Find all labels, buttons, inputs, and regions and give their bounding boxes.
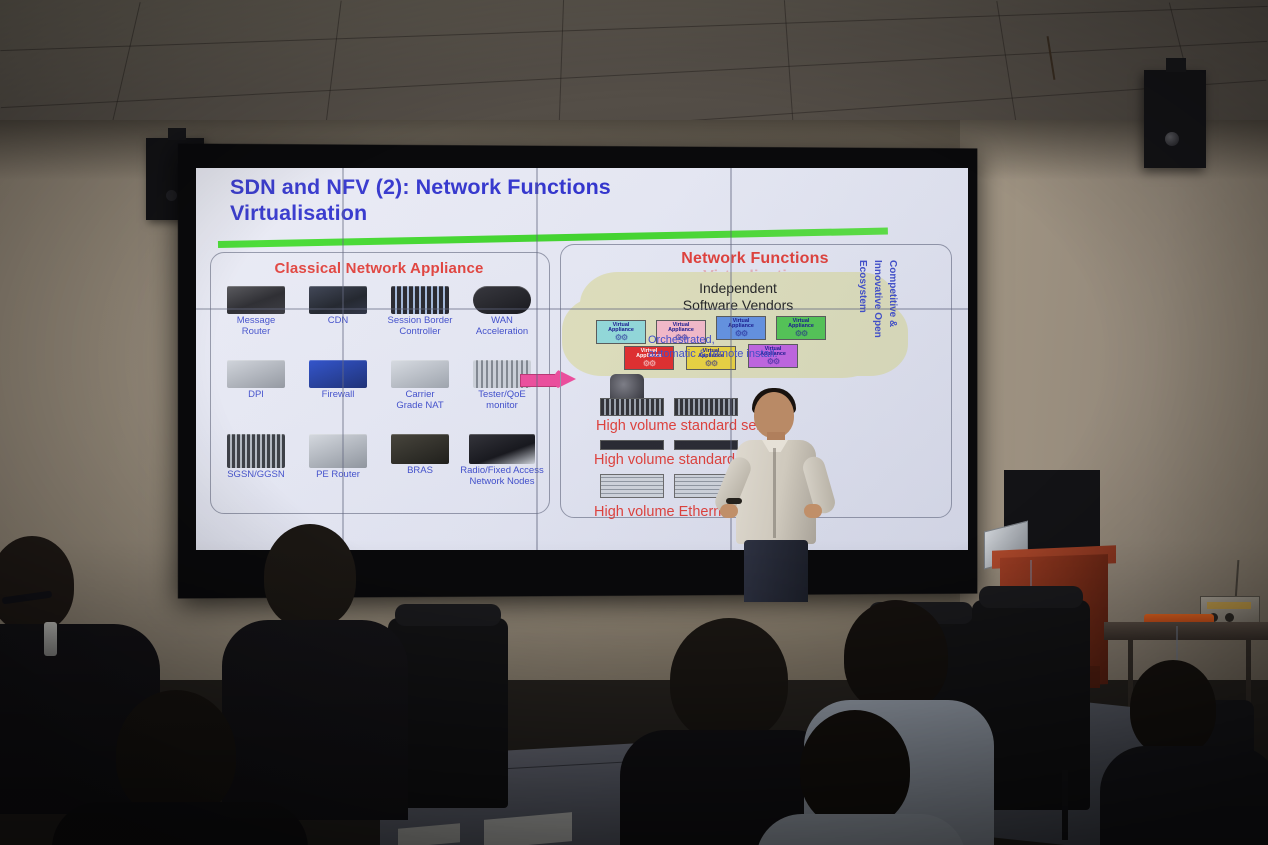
device-item: Message Router xyxy=(216,286,296,337)
orchestration-label: Orchestrated, automatic & remote install… xyxy=(648,334,848,362)
presentation-screen: SDN and NFV (2): Network Functions Virtu… xyxy=(196,168,968,550)
classical-appliance-heading: Classical Network Appliance xyxy=(210,260,548,277)
presenter-placket xyxy=(773,448,776,538)
audience-body xyxy=(1100,746,1268,845)
slide-title: SDN and NFV (2): Network Functions Virtu… xyxy=(230,174,750,226)
presenter-left-hand xyxy=(720,504,738,518)
water-bottle xyxy=(44,622,57,656)
presenter-wristwatch xyxy=(726,498,742,504)
device-item: Firewall xyxy=(298,360,378,401)
virtual-appliance-box: Virtual Appliance⚙⚙ xyxy=(596,320,646,344)
presenter-shirt xyxy=(736,440,816,544)
device-item: Carrier Grade NAT xyxy=(380,360,460,411)
device-grid: Message Router CDN Session Border Con xyxy=(216,286,542,508)
device-item: Radio/Fixed Access Network Nodes xyxy=(459,434,545,487)
radio-fixed-access-icon xyxy=(469,434,535,464)
panel-bezel xyxy=(196,308,968,310)
panel-bezel xyxy=(342,168,344,550)
slide-content: SDN and NFV (2): Network Functions Virtu… xyxy=(196,168,968,550)
audience-head xyxy=(670,618,788,742)
slide-title-line1: SDN and NFV (2): Network Functions xyxy=(230,174,750,200)
device-item: WAN Acceleration xyxy=(462,286,542,337)
device-item: PE Router xyxy=(298,434,378,481)
audience-head xyxy=(800,710,910,828)
presenter-trousers xyxy=(744,540,808,602)
audience-body xyxy=(222,620,408,820)
sgsn-ggsn-icon xyxy=(227,434,285,468)
audience-body xyxy=(52,802,308,845)
firewall-icon xyxy=(309,360,367,388)
chair-leg xyxy=(1062,770,1068,840)
pe-router-icon xyxy=(309,434,367,468)
carrier-grade-nat-icon xyxy=(391,360,449,388)
device-item: BRAS xyxy=(380,434,460,477)
device-item: DPI xyxy=(216,360,296,401)
audience-head xyxy=(844,600,948,712)
audience-head xyxy=(116,690,236,818)
right-speaker xyxy=(1144,70,1206,168)
audience-body xyxy=(756,814,966,845)
bras-icon xyxy=(391,434,449,464)
device-item: SGSN/GGSN xyxy=(216,434,296,481)
slide-title-line2: Virtualisation xyxy=(230,200,750,226)
storage-hardware-icons xyxy=(600,440,738,450)
audience-head xyxy=(264,524,356,628)
ecosystem-vertical-label: Competitive & Innovative Open Ecosystem xyxy=(855,260,900,368)
server-hardware-icons xyxy=(600,398,738,416)
device-item: CDN xyxy=(298,286,378,327)
device-item: Session Border Controller xyxy=(380,286,460,337)
panel-bezel xyxy=(536,168,538,550)
conference-room-photo: SDN and NFV (2): Network Functions Virtu… xyxy=(0,0,1268,845)
audience-head xyxy=(1130,660,1216,756)
presenter xyxy=(724,392,834,602)
dpi-icon xyxy=(227,360,285,388)
presenter-right-hand xyxy=(804,504,822,518)
